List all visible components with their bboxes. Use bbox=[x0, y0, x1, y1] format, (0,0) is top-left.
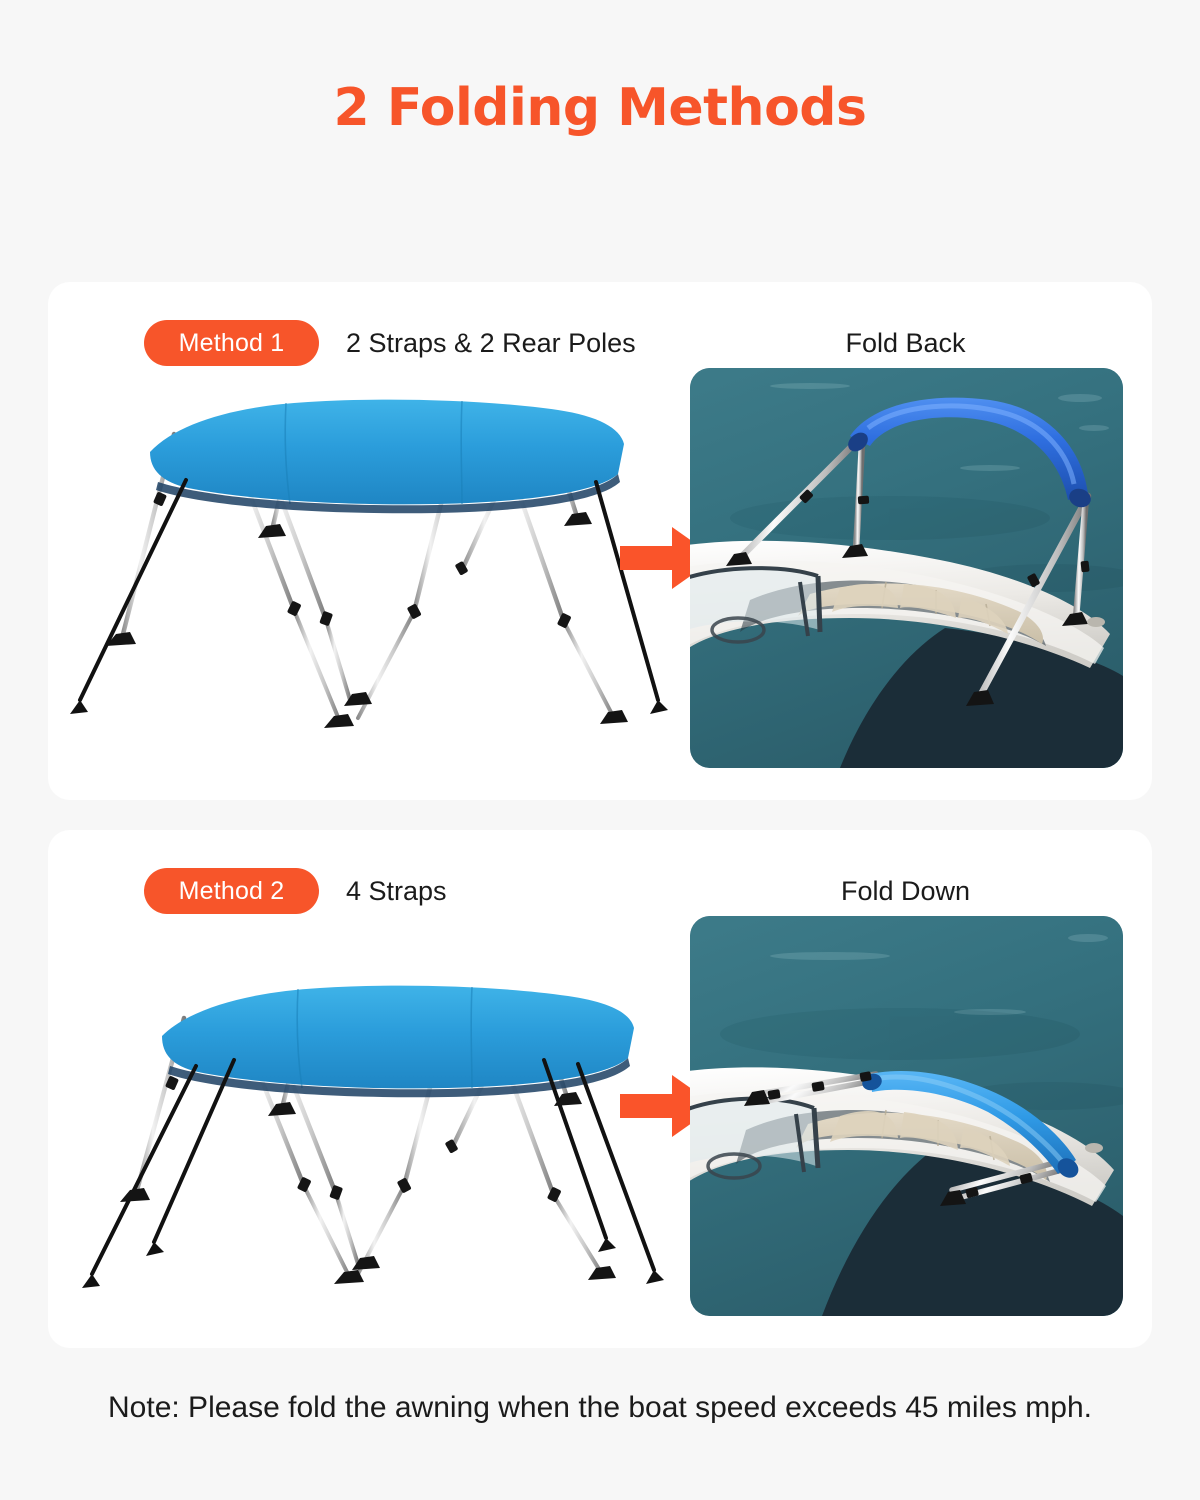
method-card-1: Method 1 2 Straps & 2 Rear Poles Fold Ba… bbox=[48, 282, 1152, 800]
method-2-description: 4 Straps bbox=[346, 868, 447, 914]
boat-bimini-folded-back-photo bbox=[690, 368, 1123, 768]
method-1-description: 2 Straps & 2 Rear Poles bbox=[346, 320, 636, 366]
method-1-header: Method 1 2 Straps & 2 Rear Poles Fold Ba… bbox=[48, 320, 1152, 366]
footer-note: Note: Please fold the awning when the bo… bbox=[0, 1391, 1200, 1425]
method-card-2: Method 2 4 Straps Fold Down bbox=[48, 830, 1152, 1348]
page-title: 2 Folding Methods bbox=[0, 78, 1200, 138]
bimini-top-two-straps-diagram bbox=[58, 370, 668, 770]
boat-bimini-folded-down-photo bbox=[690, 916, 1123, 1316]
method-2-header: Method 2 4 Straps Fold Down bbox=[48, 868, 1152, 914]
bimini-top-four-straps-diagram bbox=[58, 918, 668, 1318]
method-1-fold-label: Fold Back bbox=[688, 320, 1123, 366]
method-1-badge: Method 1 bbox=[144, 320, 319, 366]
method-2-badge: Method 2 bbox=[144, 868, 319, 914]
method-2-fold-label: Fold Down bbox=[688, 868, 1123, 914]
